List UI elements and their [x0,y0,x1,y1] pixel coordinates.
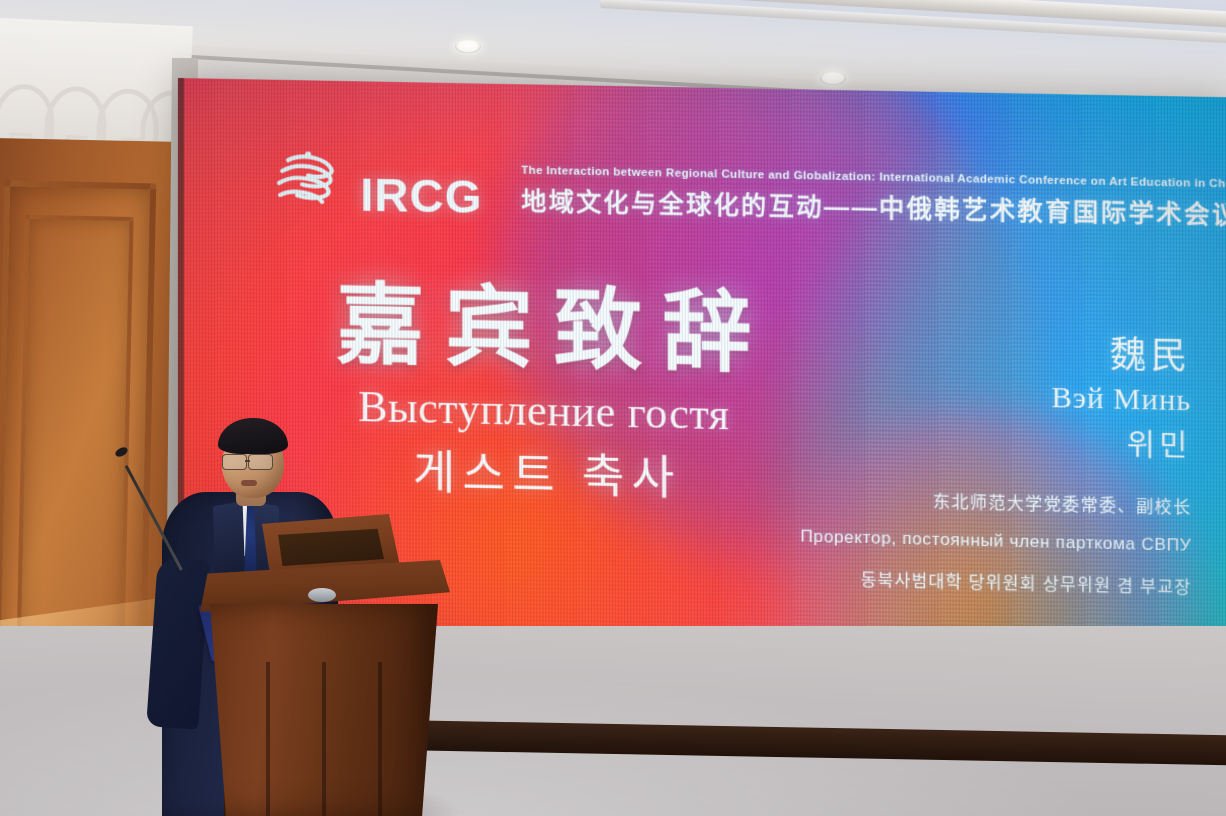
speaker-title-korean: 동북사범대학 당위원회 상무위원 겸 부교장 [713,562,1191,599]
mouth [241,480,257,486]
ceiling-spotlight-icon [455,40,481,53]
ircg-wordmark: IRCG [360,172,482,218]
speaker-name-block: 魏民 Вэй Минь 위민 [723,317,1191,464]
wooden-podium [200,560,450,816]
eyeglasses-lens-left-icon [222,454,247,470]
eyeglasses-lens-right-icon [248,454,273,470]
speaker-title-chinese: 东北师范大学党委常委、副校长 [713,482,1191,518]
podium-groove [322,662,326,816]
speaker-name-chinese: 魏民 [723,317,1191,379]
speaker-title-block: 东北师范大学党委常委、副校长 Проректор, постоянный чле… [713,482,1191,615]
podium-column [210,604,438,816]
hair [218,418,288,454]
conference-stage-photo: IRCG The Interaction between Regional Cu… [0,0,1226,816]
conference-titles: The Interaction between Regional Culture… [521,165,1226,236]
podium-groove [378,662,382,816]
brand-row: IRCG [274,148,482,218]
podium-control-knob[interactable] [308,588,336,602]
podium-groove [266,662,270,816]
speaker-title-russian: Проректор, постоянный член парткома СВПУ [713,525,1191,556]
eyeglasses-bridge-icon [245,460,250,462]
ircg-globe-logo-icon [274,148,344,215]
ceiling-spotlight-icon [820,72,846,85]
conference-title-chinese: 地域文化与全球化的互动——中俄韩艺术教育国际学术会议 [521,182,1226,236]
